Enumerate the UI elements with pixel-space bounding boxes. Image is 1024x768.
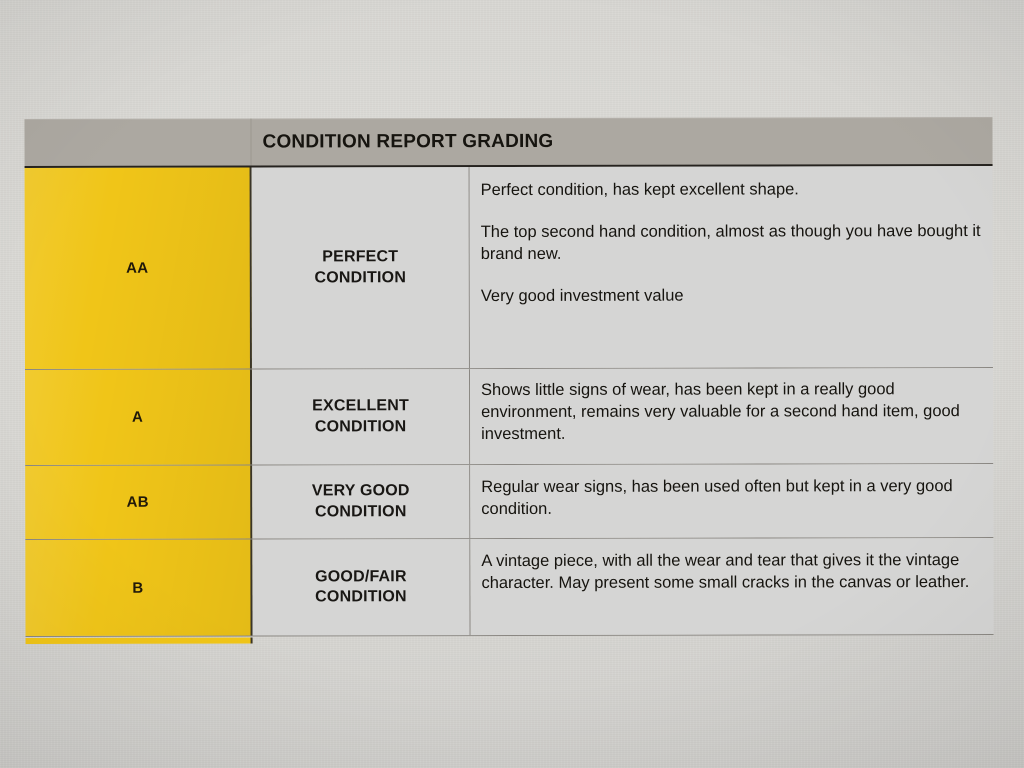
grade-code-ab: AB [25,466,252,539]
description-paragraph: Regular wear signs, has been used often … [481,475,983,520]
grade-column-overhang [26,638,253,644]
condition-label-line1: PERFECT [322,248,398,265]
condition-label-aa: PERFECT CONDITION [252,167,470,368]
table-row: A EXCELLENT CONDITION Shows little signs… [25,368,993,466]
table-row: AA PERFECT CONDITION Perfect condition, … [25,166,993,370]
description-paragraph: Perfect condition, has kept excellent sh… [481,178,983,201]
condition-description-b: A vintage piece, with all the wear and t… [470,538,993,635]
condition-label-a: EXCELLENT CONDITION [252,369,470,464]
grade-code-b: B [25,540,252,636]
grade-code-a: A [25,370,252,465]
condition-label-line1: VERY GOOD [312,482,410,499]
condition-label-b: GOOD/FAIR CONDITION [252,539,470,635]
grade-code-aa: AA [25,168,252,369]
description-paragraph: Shows little signs of wear, has been kep… [481,378,983,445]
condition-label-ab: VERY GOOD CONDITION [252,465,470,538]
description-paragraph: A vintage piece, with all the wear and t… [481,549,983,594]
table-title: CONDITION REPORT GRADING [251,117,992,166]
condition-label-line1: EXCELLENT [312,397,409,414]
table-header-row: CONDITION REPORT GRADING [24,117,992,168]
condition-label-line2: CONDITION [314,269,406,286]
condition-label-line2: CONDITION [315,418,407,435]
condition-label-line2: CONDITION [315,588,407,605]
description-paragraph: The top second hand condition, almost as… [481,220,983,265]
condition-description-ab: Regular wear signs, has been used often … [470,464,993,538]
condition-report-grading-table: CONDITION REPORT GRADING AA PERFECT COND… [24,117,993,637]
condition-label-line2: CONDITION [315,503,407,520]
table-row: AB VERY GOOD CONDITION Regular wear sign… [25,464,993,540]
description-paragraph: Very good investment value [481,284,983,307]
condition-description-aa: Perfect condition, has kept excellent sh… [470,166,993,368]
table-row: B GOOD/FAIR CONDITION A vintage piece, w… [25,538,993,637]
condition-description-a: Shows little signs of wear, has been kep… [470,368,993,464]
table-header-spacer-cell [24,119,251,166]
condition-label-line1: GOOD/FAIR [315,568,407,585]
